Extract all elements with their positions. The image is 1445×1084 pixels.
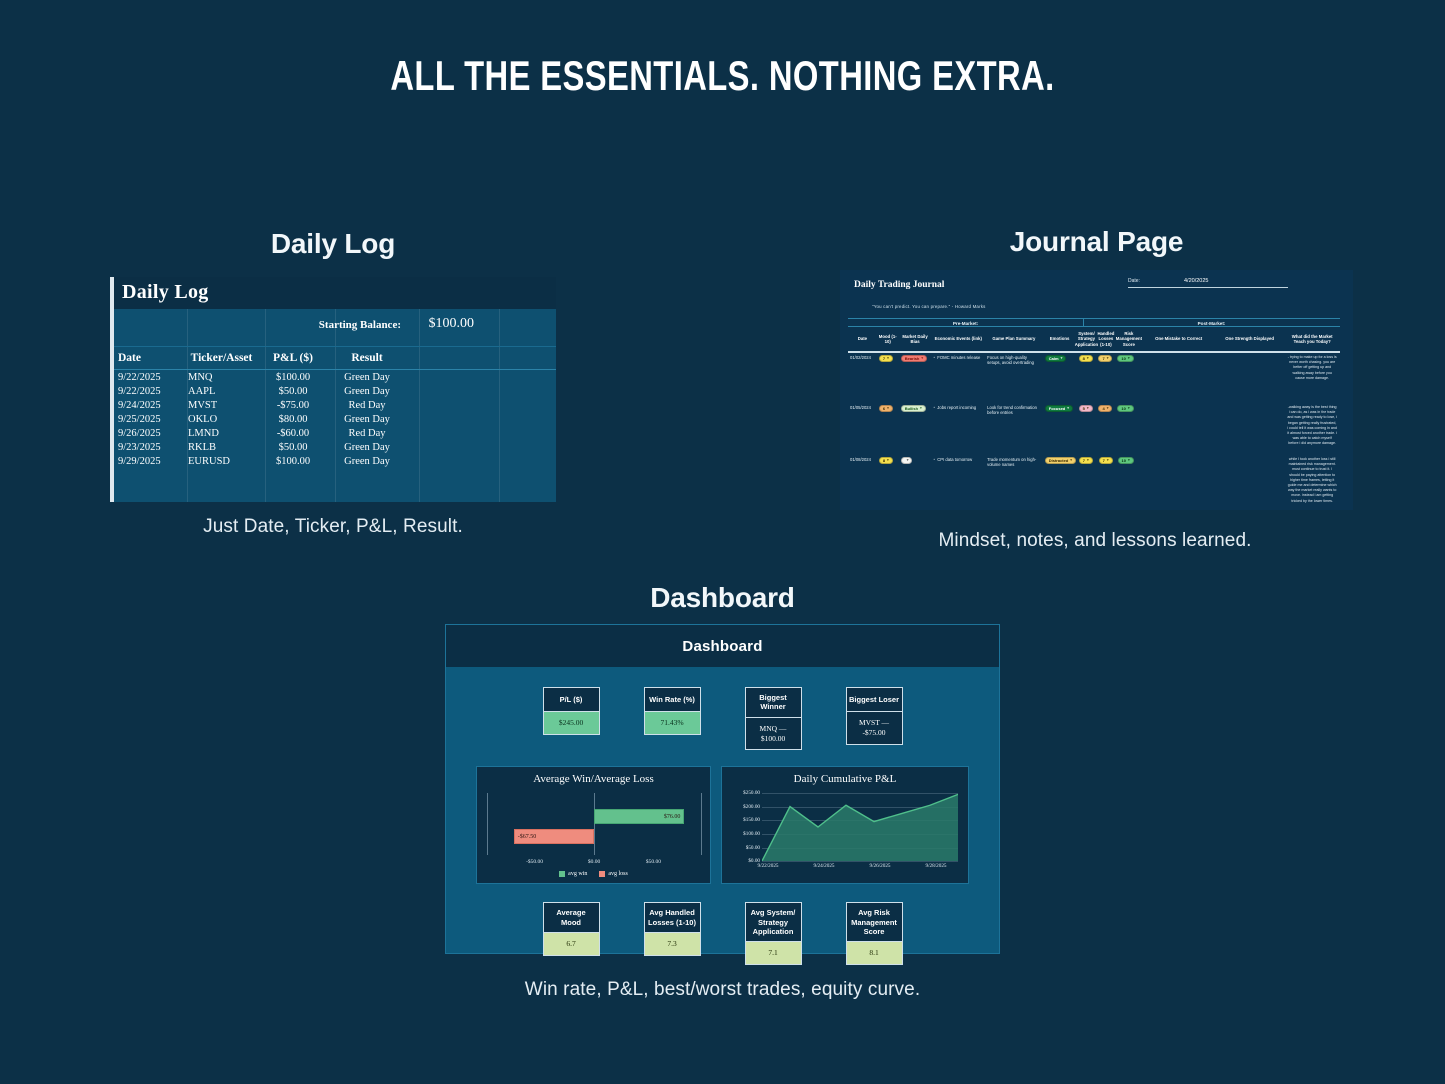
journal-cell-date[interactable]: 01/11/2024 xyxy=(848,508,877,510)
table-header-row: Date Ticker/Asset P&L ($) Result xyxy=(114,347,556,370)
ytick-label: $250.00 xyxy=(743,790,760,796)
section-caption-daily-log: Just Date, Ticker, P&L, Result. xyxy=(90,516,576,538)
kpi-card: Avg Risk Management Score8.1 xyxy=(846,902,903,965)
cell-ticker: EURUSD xyxy=(184,454,259,468)
pill[interactable]: 8▾ xyxy=(1079,355,1093,362)
journal-cell-handled[interactable]: 7▾ xyxy=(1096,353,1115,403)
chart-average-win-loss: Average Win/Average Loss $76.00 -$67.50 … xyxy=(476,766,711,884)
pill[interactable]: ▾ xyxy=(901,457,913,464)
table-row[interactable]: 9/26/2025LMND-$60.00Red Day xyxy=(114,426,556,440)
journal-cell-strength[interactable] xyxy=(1215,455,1285,508)
xtick-label: $0.00 xyxy=(588,859,600,865)
kpi-value: 71.43% xyxy=(644,712,701,735)
starting-balance-label: Starting Balance: xyxy=(319,319,401,331)
journal-date-label: Date: xyxy=(1128,278,1184,284)
table-row-empty[interactable] xyxy=(114,501,556,502)
kpi-label: Biggest Loser xyxy=(846,687,903,712)
cell-result: Green Day xyxy=(327,440,407,454)
cumulative-area-svg xyxy=(762,793,958,861)
kpi-value: MNQ — $100.00 xyxy=(745,718,802,751)
chart-title-avg-win-loss: Average Win/Average Loss xyxy=(477,767,710,785)
cell-pl: $50.00 xyxy=(259,384,327,398)
cell-pl: $80.00 xyxy=(259,412,327,426)
section-heading-dashboard: Dashboard xyxy=(445,582,1000,614)
section-heading-journal: Journal Page xyxy=(840,226,1353,258)
journal-col-economic-events: Economic Events (link) xyxy=(931,327,985,351)
journal-cell-game-plan[interactable]: Trade momentum on high-volume names xyxy=(985,455,1043,508)
cell-pl: -$75.00 xyxy=(259,398,327,412)
journal-header-row: DateMood (1-10)Market Daily BiasEconomic… xyxy=(848,327,1340,353)
journal-cell-emotions[interactable]: Focused▾ xyxy=(1043,403,1077,455)
pill[interactable]: Bullish▾ xyxy=(901,405,926,412)
col-ticker: Ticker/Asset xyxy=(184,347,259,370)
starting-balance-row: Starting Balance: $100.00 xyxy=(114,309,556,347)
cell-ticker: MNQ xyxy=(184,370,259,385)
table-row[interactable]: 9/23/2025RKLB$50.00Green Day xyxy=(114,440,556,454)
journal-cell-economic-events[interactable]: • FOMC minutes release xyxy=(932,353,986,403)
journal-cell-date[interactable]: 01/02/2024 xyxy=(848,353,877,403)
col-result: Result xyxy=(327,347,407,370)
cell-pl: $100.00 xyxy=(259,370,327,385)
journal-cell-teach[interactable]: -walking away is the best thing i can do… xyxy=(1284,403,1340,455)
pill[interactable]: Distracted▾ xyxy=(1045,457,1076,464)
kpi-card: Avg System/ Strategy Application7.1 xyxy=(745,902,802,965)
cell-date: 9/22/2025 xyxy=(114,384,184,398)
table-row[interactable]: 9/29/2025EURUSD$100.00Green Day xyxy=(114,454,556,468)
legend-label-avg-win: avg win xyxy=(568,871,587,877)
daily-log-title-bar: Daily Log xyxy=(114,277,556,309)
legend-item-avg-win: avg win xyxy=(559,871,587,877)
journal-cell-economic-events[interactable]: • CPI data tomorrow xyxy=(931,455,985,508)
table-row[interactable]: 9/22/2025MNQ$100.00Green Day xyxy=(114,370,556,385)
chart-daily-cumulative-pl: Daily Cumulative P&L $0.00$50.00$100.00$… xyxy=(721,766,969,884)
kpi-value: 7.1 xyxy=(745,942,802,965)
journal-cell-bias[interactable]: Bullish▾ xyxy=(899,403,932,455)
journal-cell-handled[interactable]: 8▾ xyxy=(1096,508,1115,510)
journal-cell-economic-events[interactable]: • Jobs report incoming xyxy=(932,403,986,455)
journal-cell-teach[interactable]: while I took another loss i still mainta… xyxy=(1284,455,1340,508)
journal-cell-mood[interactable]: 6▾ xyxy=(877,403,899,455)
journal-col-teach: What did the Market Teach you Today? xyxy=(1284,327,1340,351)
kpi-label: Biggest Winner xyxy=(745,687,802,718)
kpi-label: P/L ($) xyxy=(543,687,600,712)
kpi-card: Win Rate (%)71.43% xyxy=(644,687,701,750)
kpi-label: Avg System/ Strategy Application xyxy=(745,902,802,942)
dashboard-title: Dashboard xyxy=(682,638,762,655)
kpi-row-bottom: Average Mood6.7Avg Handled Losses (1-10)… xyxy=(446,902,999,965)
pill[interactable]: 8▾ xyxy=(879,457,893,464)
journal-cell-bias[interactable]: Bearish▾ xyxy=(899,353,932,403)
pill[interactable]: 4▾ xyxy=(1098,405,1112,412)
daily-log-panel: Daily Log Starting Balance: $100.00 Date… xyxy=(110,277,556,502)
journal-cell-system[interactable]: 8▾ xyxy=(1077,353,1097,403)
journal-col-mood: Mood (1-10) xyxy=(877,327,899,351)
cell-ticker: MVST xyxy=(184,398,259,412)
journal-col-game-plan: Game Plan Summary xyxy=(985,327,1043,351)
kpi-value: MVST — -$75.00 xyxy=(846,712,903,745)
journal-cell-mistake[interactable] xyxy=(1142,508,1215,510)
col-date: Date xyxy=(114,347,184,370)
pill[interactable]: 6▾ xyxy=(879,405,893,412)
journal-cell-handled[interactable]: 7▾ xyxy=(1097,455,1116,508)
kpi-card: P/L ($)$245.00 xyxy=(543,687,600,750)
dashboard-panel: Dashboard P/L ($)$245.00Win Rate (%)71.4… xyxy=(445,624,1000,954)
journal-panel: Daily Trading Journal Date: 4/20/2025 "Y… xyxy=(840,270,1353,510)
bar-label-avg-loss: -$67.50 xyxy=(515,834,540,840)
cell-ticker: AAPL xyxy=(184,384,259,398)
avg-win-loss-legend: avg win avg loss xyxy=(477,871,710,877)
journal-col-mistake: One Mistake to Correct xyxy=(1142,327,1214,351)
journal-date-value[interactable]: 4/20/2025 xyxy=(1184,278,1208,284)
journal-cell-system[interactable]: 5▾ xyxy=(1077,403,1097,455)
journal-date-field[interactable]: Date: 4/20/2025 xyxy=(1128,278,1288,288)
ytick-label: $150.00 xyxy=(743,817,760,823)
ytick-label: $50.00 xyxy=(746,845,760,851)
avg-win-loss-plot: $76.00 -$67.50 xyxy=(487,793,702,855)
xtick-label: -$50.00 xyxy=(526,859,543,865)
cell-result: Green Day xyxy=(327,370,407,385)
journal-cell-game-plan[interactable]: Focus on high-quality setups, avoid over… xyxy=(985,353,1043,403)
journal-cell-strength[interactable] xyxy=(1215,508,1285,510)
journal-row[interactable]: 01/02/20247▾Bearish▾• FOMC minutes relea… xyxy=(848,353,1340,403)
starting-balance-value[interactable]: $100.00 xyxy=(429,316,475,332)
bar-avg-win: $76.00 xyxy=(594,809,684,824)
pill[interactable]: 7▾ xyxy=(1099,457,1113,464)
journal-col-strength: One Strength Displayed xyxy=(1215,327,1285,351)
journal-cell-emotions[interactable]: Calm▾ xyxy=(1043,353,1077,403)
cell-result: Red Day xyxy=(327,398,407,412)
kpi-label: Avg Handled Losses (1-10) xyxy=(644,902,701,933)
journal-col-risk-score: Risk Management Score xyxy=(1115,327,1142,351)
journal-cell-teach[interactable]: - stop loss placement is everything. esp… xyxy=(1284,508,1340,510)
group-post-market: Post-Market: xyxy=(1084,319,1339,326)
chart-title-cumulative: Daily Cumulative P&L xyxy=(722,767,968,785)
xtick-label: 9/26/2025 xyxy=(869,863,890,869)
journal-col-system-strategy: System/ Strategy Application xyxy=(1076,327,1096,351)
table-row[interactable]: 9/22/2025AAPL$50.00Green Day xyxy=(114,384,556,398)
table-row[interactable]: 9/24/2025MVST-$75.00Red Day xyxy=(114,398,556,412)
cumulative-yticks: $0.00$50.00$100.00$150.00$200.00$250.00 xyxy=(726,789,762,861)
cell-pl: $100.00 xyxy=(259,454,327,468)
col-pl: P&L ($) xyxy=(259,347,327,370)
journal-quote: "You can't predict. You can prepare." - … xyxy=(872,304,986,309)
kpi-card: Avg Handled Losses (1-10)7.3 xyxy=(644,902,701,965)
journal-cell-bias[interactable]: ▾ xyxy=(899,455,932,508)
journal-col-bias: Market Daily Bias xyxy=(899,327,932,351)
page-title: ALL THE ESSENTIALS. NOTHING EXTRA. xyxy=(159,52,1286,100)
kpi-card: Average Mood6.7 xyxy=(543,902,600,965)
kpi-card: Biggest WinnerMNQ — $100.00 xyxy=(745,687,802,750)
cell-result: Green Day xyxy=(327,454,407,468)
pill[interactable]: 7▾ xyxy=(1098,355,1112,362)
pill[interactable]: 5▾ xyxy=(1079,405,1093,412)
journal-cell-strength[interactable] xyxy=(1215,403,1285,455)
kpi-card: Biggest LoserMVST — -$75.00 xyxy=(846,687,903,750)
kpi-value: 8.1 xyxy=(846,942,903,965)
kpi-row-top: P/L ($)$245.00Win Rate (%)71.43%Biggest … xyxy=(446,687,999,750)
section-caption-journal: Mindset, notes, and lessons learned. xyxy=(845,530,1345,552)
journal-cell-mood[interactable]: 7▾ xyxy=(877,353,899,403)
kpi-value: 6.7 xyxy=(543,933,600,956)
cell-ticker: RKLB xyxy=(184,440,259,454)
pill[interactable]: 7▾ xyxy=(1079,457,1093,464)
xtick-label: $50.00 xyxy=(646,859,661,865)
journal-cell-bias[interactable]: Bearish▾ xyxy=(899,508,932,510)
cell-result: Green Day xyxy=(327,384,407,398)
daily-log-title: Daily Log xyxy=(122,281,209,303)
journal-cell-risk[interactable]: 10▾ xyxy=(1115,403,1142,455)
journal-cell-date[interactable]: 01/05/2024 xyxy=(848,403,877,455)
bar-label-avg-win: $76.00 xyxy=(661,814,684,820)
section-caption-dashboard: Win rate, P&L, best/worst trades, equity… xyxy=(420,979,1025,1001)
kpi-label: Average Mood xyxy=(543,902,600,933)
journal-cell-teach[interactable]: - trying to make up for a loss is never … xyxy=(1284,353,1340,403)
cumulative-plot xyxy=(762,793,958,861)
journal-cell-strength[interactable] xyxy=(1215,353,1285,403)
ytick-label: $100.00 xyxy=(743,831,760,837)
kpi-value: 7.3 xyxy=(644,933,701,956)
pill[interactable]: 10▾ xyxy=(1117,405,1133,412)
charts-row: Average Win/Average Loss $76.00 -$67.50 … xyxy=(446,766,999,884)
legend-label-avg-loss: avg loss xyxy=(608,871,628,877)
gridline xyxy=(762,861,958,862)
journal-cell-mistake[interactable] xyxy=(1142,455,1215,508)
kpi-value: $245.00 xyxy=(543,712,600,735)
journal-table: Pre-Market: Post-Market: DateMood (1-10)… xyxy=(848,318,1340,510)
journal-cell-economic-events[interactable]: • No major events today xyxy=(932,508,986,510)
pill[interactable]: Calm▾ xyxy=(1045,355,1067,362)
table-row-empty[interactable] xyxy=(114,490,556,501)
table-row[interactable]: 9/25/2025OKLO$80.00Green Day xyxy=(114,412,556,426)
poster-page: ALL THE ESSENTIALS. NOTHING EXTRA. Daily… xyxy=(0,0,1445,1084)
legend-swatch-avg-loss xyxy=(599,871,605,877)
journal-cell-game-plan[interactable]: Look for trend confirmation before entri… xyxy=(985,403,1043,455)
bar-avg-loss: -$67.50 xyxy=(514,829,594,844)
journal-cell-emotions[interactable]: Distracted▾ xyxy=(1043,455,1077,508)
kpi-label: Avg Risk Management Score xyxy=(846,902,903,942)
journal-row[interactable]: 01/08/20248▾▾• CPI data tomorrowTrade mo… xyxy=(848,455,1340,508)
pill[interactable]: 7▾ xyxy=(879,355,893,362)
group-pre-market: Pre-Market: xyxy=(848,319,1084,326)
journal-cell-system[interactable]: 8▾ xyxy=(1077,508,1097,510)
journal-cell-mistake[interactable] xyxy=(1142,353,1215,403)
journal-cell-mistake[interactable] xyxy=(1142,403,1215,455)
journal-cell-mood[interactable]: 8▾ xyxy=(877,455,899,508)
xtick-label: 9/22/2025 xyxy=(757,863,778,869)
journal-cell-risk[interactable]: 10▾ xyxy=(1116,455,1143,508)
journal-col-date: Date xyxy=(848,327,877,351)
ytick-label: $200.00 xyxy=(743,804,760,810)
cell-result: Green Day xyxy=(327,412,407,426)
journal-cell-handled[interactable]: 4▾ xyxy=(1096,403,1115,455)
journal-cell-risk[interactable]: 10▾ xyxy=(1115,508,1142,510)
table-row-empty[interactable] xyxy=(114,468,556,479)
journal-group-bar: Pre-Market: Post-Market: xyxy=(848,318,1340,327)
journal-row[interactable]: 01/11/20245▾Bearish▾• No major events to… xyxy=(848,508,1340,510)
journal-cell-emotions[interactable]: Focused▾ xyxy=(1043,508,1077,510)
table-row-empty[interactable] xyxy=(114,479,556,490)
pill[interactable]: 10▾ xyxy=(1117,355,1133,362)
cell-date: 9/24/2025 xyxy=(114,398,184,412)
pill[interactable]: Focused▾ xyxy=(1045,405,1073,412)
pill[interactable]: 10▾ xyxy=(1118,457,1134,464)
legend-swatch-avg-win xyxy=(559,871,565,877)
cell-pl: $50.00 xyxy=(259,440,327,454)
section-heading-daily-log: Daily Log xyxy=(110,228,556,260)
journal-row[interactable]: 01/05/20246▾Bullish▾• Jobs report incomi… xyxy=(848,403,1340,455)
journal-col-emotions: Emotions xyxy=(1043,327,1077,351)
cell-date: 9/25/2025 xyxy=(114,412,184,426)
daily-log-table: Date Ticker/Asset P&L ($) Result 9/22/20… xyxy=(114,347,556,502)
cell-result: Red Day xyxy=(327,426,407,440)
cell-ticker: OKLO xyxy=(184,412,259,426)
journal-cell-mood[interactable]: 5▾ xyxy=(877,508,899,510)
pill[interactable]: Bearish▾ xyxy=(901,355,927,362)
cell-ticker: LMND xyxy=(184,426,259,440)
cell-date: 9/26/2025 xyxy=(114,426,184,440)
dashboard-title-bar: Dashboard xyxy=(446,625,999,667)
kpi-label: Win Rate (%) xyxy=(644,687,701,712)
cell-date: 9/29/2025 xyxy=(114,454,184,468)
cell-pl: -$60.00 xyxy=(259,426,327,440)
journal-col-handled-losses: Handled Losses (1-10) xyxy=(1096,327,1115,351)
journal-cell-game-plan[interactable]: Stay defensive, avoid chasing moves xyxy=(985,508,1043,510)
xtick-label: 9/24/2025 xyxy=(813,863,834,869)
journal-cell-date[interactable]: 01/08/2024 xyxy=(848,455,877,508)
cell-date: 9/23/2025 xyxy=(114,440,184,454)
journal-cell-system[interactable]: 7▾ xyxy=(1077,455,1097,508)
avg-win-loss-xticks: -$50.00$0.00$50.00 xyxy=(487,859,702,869)
journal-title: Daily Trading Journal xyxy=(854,280,944,290)
legend-item-avg-loss: avg loss xyxy=(599,871,628,877)
cell-date: 9/22/2025 xyxy=(114,370,184,385)
xtick-label: 9/28/2025 xyxy=(925,863,946,869)
journal-cell-risk[interactable]: 10▾ xyxy=(1115,353,1142,403)
